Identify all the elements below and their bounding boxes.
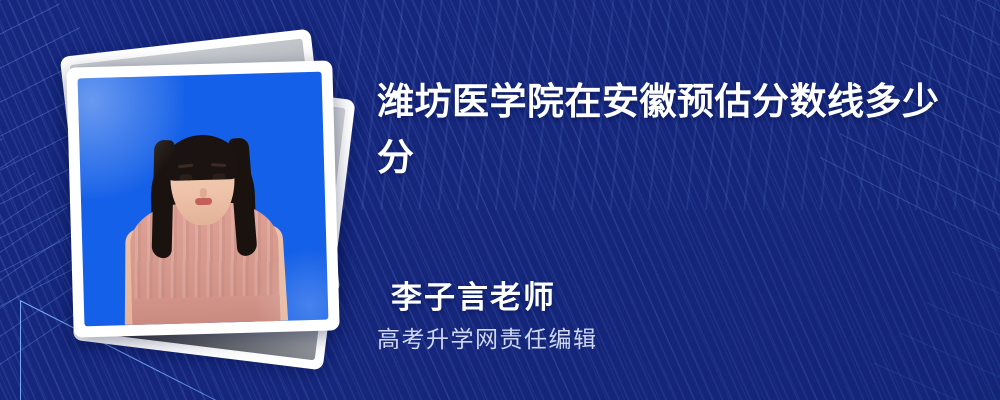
author-photo-stack: [52, 22, 352, 367]
banner-root: 潍坊医学院在安徽预估分数线多少分 李子言老师 高考升学网责任编辑: [0, 0, 1000, 400]
photo-card-front: [66, 60, 339, 337]
banner-title: 潍坊医学院在安徽预估分数线多少分: [377, 74, 952, 186]
portrait-nose: [200, 188, 207, 198]
author-portrait-photo: [78, 72, 329, 327]
portrait-eye-right: [212, 173, 225, 179]
portrait-mouth: [194, 198, 211, 205]
portrait-eye-left: [179, 174, 192, 180]
banner-text-column: 潍坊医学院在安徽预估分数线多少分 李子言老师 高考升学网责任编辑: [377, 0, 967, 400]
photo-sheen-bottom-right: [250, 247, 328, 326]
author-role: 高考升学网责任编辑: [377, 320, 598, 354]
author-name: 李子言老师: [391, 272, 556, 317]
